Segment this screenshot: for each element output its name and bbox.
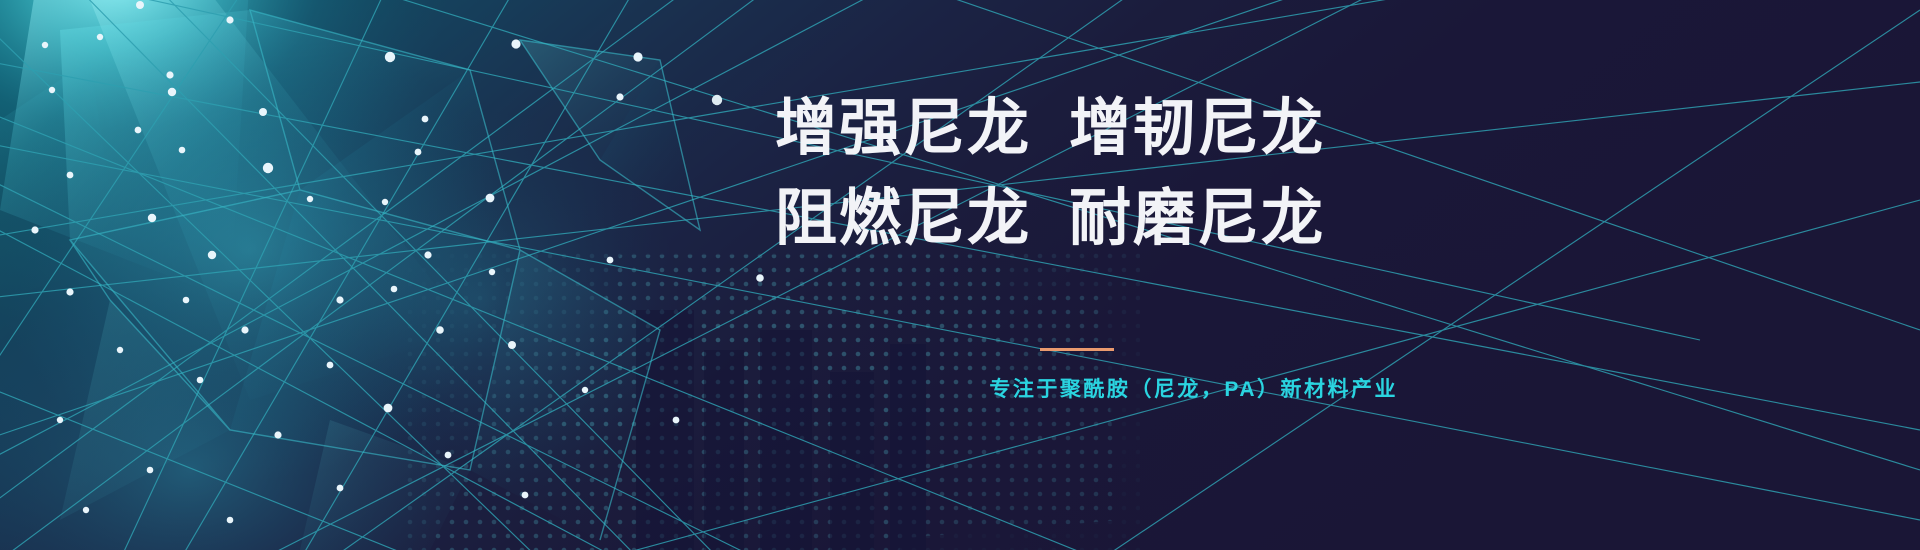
hero-banner: 增强尼龙增韧尼龙 阻燃尼龙耐磨尼龙 专注于聚酰胺（尼龙，PA）新材料产业	[0, 0, 1920, 550]
polygon-network-layer	[0, 0, 1920, 550]
polygon-facets	[0, 10, 700, 550]
low-poly-network-graphic	[0, 0, 1920, 550]
